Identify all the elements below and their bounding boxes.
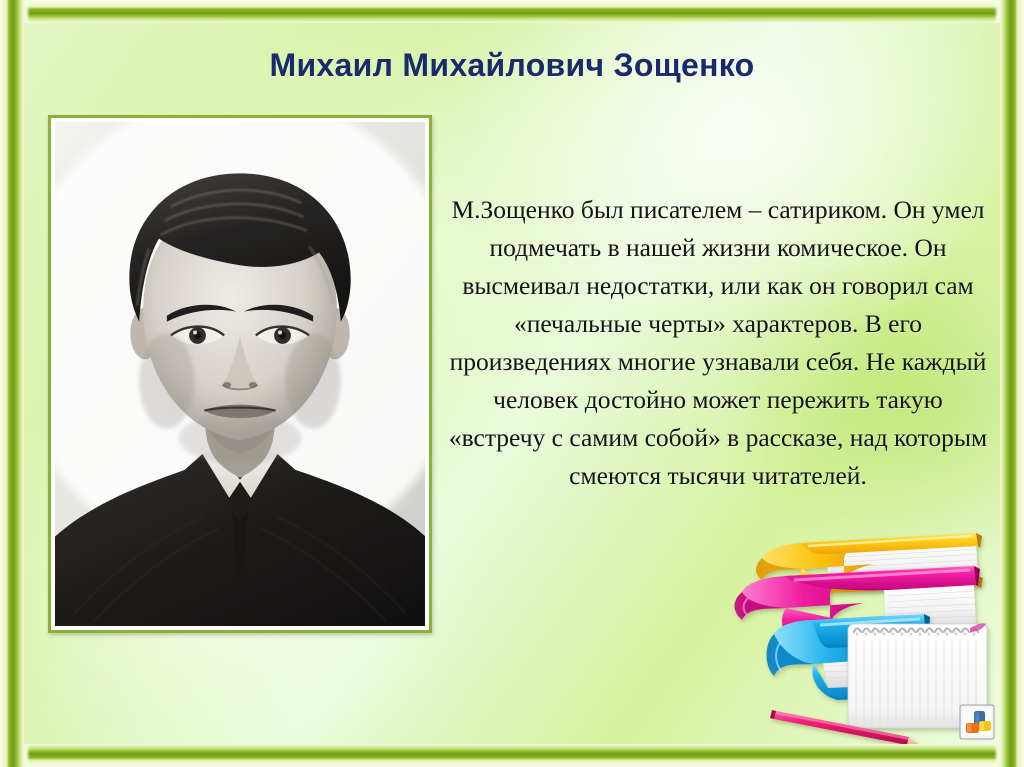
page-title: Михаил Михайлович Зощенко <box>24 47 1000 84</box>
media-shapes-icon[interactable] <box>957 702 997 742</box>
slide: Михаил Михайлович Зощенко <box>0 0 1024 767</box>
slide-content-area: Михаил Михайлович Зощенко <box>24 23 1000 744</box>
portrait-photograph <box>55 122 425 626</box>
body-paragraph: М.Зощенко был писателем – сатириком. Он … <box>444 191 992 495</box>
portrait-frame <box>48 115 432 633</box>
